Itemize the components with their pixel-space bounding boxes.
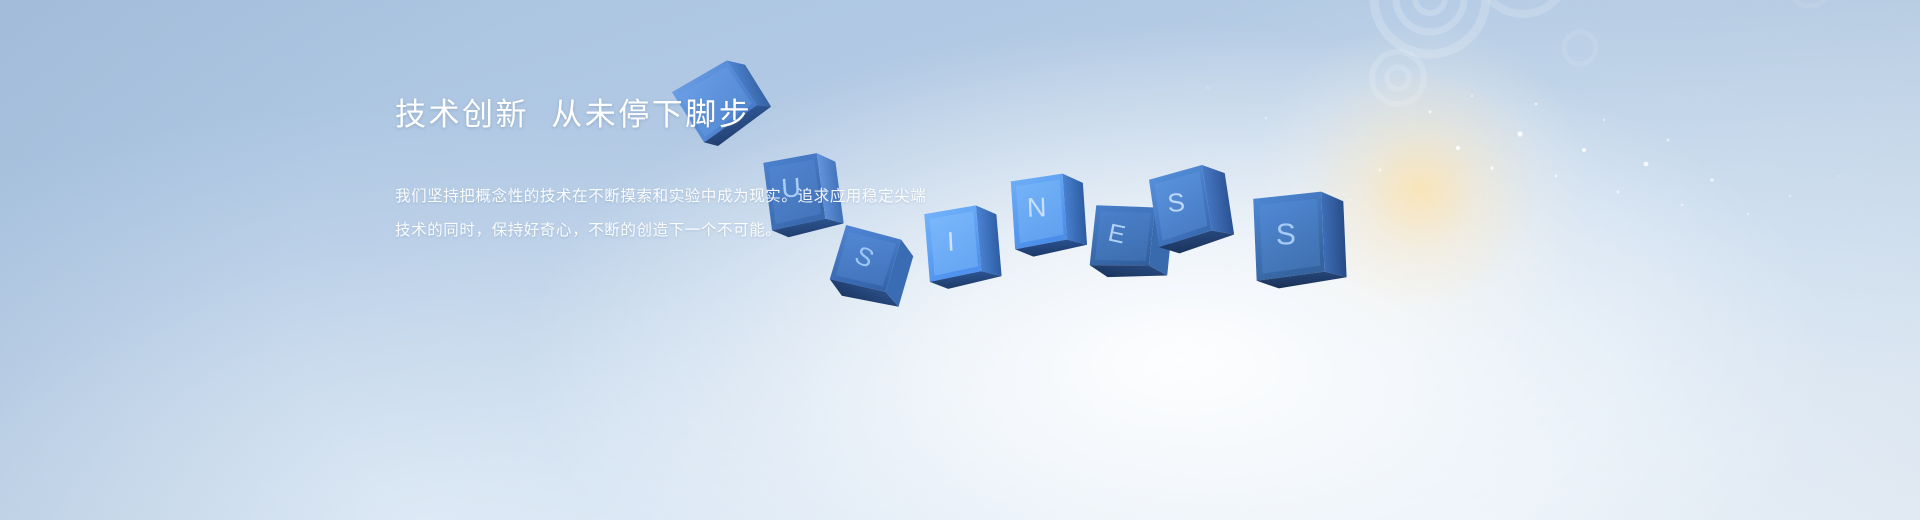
keycap-s2: S <box>1146 160 1240 266</box>
subtitle: 我们坚持把概念性的技术在不断摸索和实验中成为现实。追求应用稳定尖端 技术的同时，… <box>395 180 955 246</box>
hero-banner: U S <box>0 0 1920 520</box>
decorative-rings <box>1280 0 1920 258</box>
keycap-letter-s2: S <box>1166 187 1186 218</box>
copy-block: 技术创新 从未停下脚步 我们坚持把概念性的技术在不断摸索和实验中成为现实。追求应… <box>395 96 955 247</box>
keycap-letter-s3: S <box>1276 218 1297 251</box>
keycap-s3: S <box>1248 186 1356 298</box>
subtitle-line-2: 技术的同时，保持好奇心，不断的创造下一个不可能。 <box>395 214 955 247</box>
keycap-letter-n: N <box>1026 192 1047 223</box>
page-title: 技术创新 从未停下脚步 <box>395 96 955 134</box>
subtitle-line-1: 我们坚持把概念性的技术在不断摸索和实验中成为现实。追求应用稳定尖端 <box>395 180 955 213</box>
